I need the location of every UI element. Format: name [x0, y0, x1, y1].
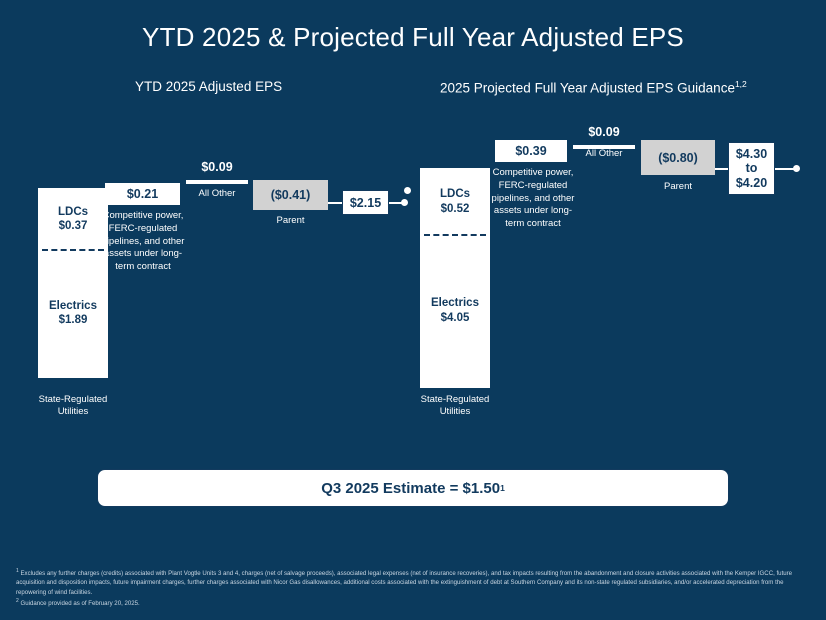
estimate-banner-superscript: 1 — [500, 483, 505, 493]
left-segment-electrics: Electrics $1.89 — [39, 249, 107, 377]
right-total-line3: $4.20 — [736, 176, 767, 190]
section-header-right-label: 2025 Projected Full Year Adjusted EPS Gu… — [440, 81, 735, 96]
footnote-2-text: Guidance provided as of February 20, 202… — [19, 600, 140, 607]
right-segment-ldcs-label: LDCs — [440, 187, 470, 201]
right-state-regulated-bar: LDCs $0.52 Electrics $4.05 — [420, 168, 490, 388]
left-segment-electrics-label: Electrics — [49, 299, 97, 313]
section-header-left: YTD 2025 Adjusted EPS — [135, 79, 282, 94]
left-parent-label: Parent — [253, 215, 328, 226]
right-competitive-value-chip: $0.39 — [495, 140, 567, 162]
right-total-chip: $4.30 to $4.20 — [728, 142, 775, 195]
left-bar-caption: State-Regulated Utilities — [18, 394, 128, 418]
right-connector-dot-in — [404, 187, 411, 194]
left-segment-electrics-value: $1.89 — [59, 313, 88, 327]
footnotes: 1 Excludes any further charges (credits)… — [16, 568, 810, 610]
section-header-right: 2025 Projected Full Year Adjusted EPS Gu… — [440, 79, 747, 96]
left-bar-caption-line1: State-Regulated — [18, 394, 128, 406]
left-parent-box: ($0.41) — [253, 180, 328, 210]
left-all-other-value: $0.09 — [186, 160, 248, 174]
left-segment-ldcs: LDCs $0.37 — [39, 189, 107, 249]
section-header-right-superscript: 1,2 — [735, 79, 747, 89]
right-total-line2: to — [746, 161, 758, 175]
left-competitive-description: Competitive power, FERC-regulated pipeli… — [101, 210, 185, 274]
left-total-chip: $2.15 — [342, 190, 389, 215]
right-all-other-label: All Other — [573, 148, 635, 159]
right-total-line1: $4.30 — [736, 147, 767, 161]
footnote-1: 1 Excludes any further charges (credits)… — [16, 568, 810, 597]
right-segment-electrics-label: Electrics — [431, 296, 479, 310]
right-connector-dot-out — [793, 165, 800, 172]
page-title: YTD 2025 & Projected Full Year Adjusted … — [0, 22, 826, 53]
section-header-left-label: YTD 2025 Adjusted EPS — [135, 79, 282, 94]
left-all-other-bar — [186, 180, 248, 184]
right-segment-ldcs: LDCs $0.52 — [421, 169, 489, 234]
right-bar-caption-line2: Utilities — [400, 406, 510, 418]
right-bar-caption: State-Regulated Utilities — [400, 394, 510, 418]
right-parent-box: ($0.80) — [641, 140, 715, 175]
right-connector-line-in — [715, 168, 729, 170]
right-competitive-description: Competitive power, FERC-regulated pipeli… — [491, 167, 575, 231]
left-segment-ldcs-label: LDCs — [58, 205, 88, 219]
right-segment-electrics: Electrics $4.05 — [421, 234, 489, 387]
left-connector-dot — [401, 199, 408, 206]
footnote-1-text: Excludes any further charges (credits) a… — [16, 570, 792, 596]
left-all-other-label: All Other — [186, 188, 248, 199]
right-all-other-value: $0.09 — [573, 125, 635, 139]
right-segment-ldcs-value: $0.52 — [441, 202, 470, 216]
left-connector-line-in — [328, 202, 342, 204]
right-bar-caption-line1: State-Regulated — [400, 394, 510, 406]
left-segment-ldcs-value: $0.37 — [59, 219, 88, 233]
footnote-2: 2 Guidance provided as of February 20, 2… — [16, 598, 810, 608]
slide-canvas: YTD 2025 & Projected Full Year Adjusted … — [0, 0, 826, 620]
right-parent-label: Parent — [641, 181, 715, 192]
estimate-banner: Q3 2025 Estimate = $1.501 — [97, 469, 729, 507]
right-segment-electrics-value: $4.05 — [441, 311, 470, 325]
left-state-regulated-bar: LDCs $0.37 Electrics $1.89 — [38, 188, 108, 378]
left-competitive-value-chip: $0.21 — [105, 183, 180, 205]
estimate-banner-text: Q3 2025 Estimate = $1.50 — [321, 480, 500, 497]
left-bar-caption-line2: Utilities — [18, 406, 128, 418]
